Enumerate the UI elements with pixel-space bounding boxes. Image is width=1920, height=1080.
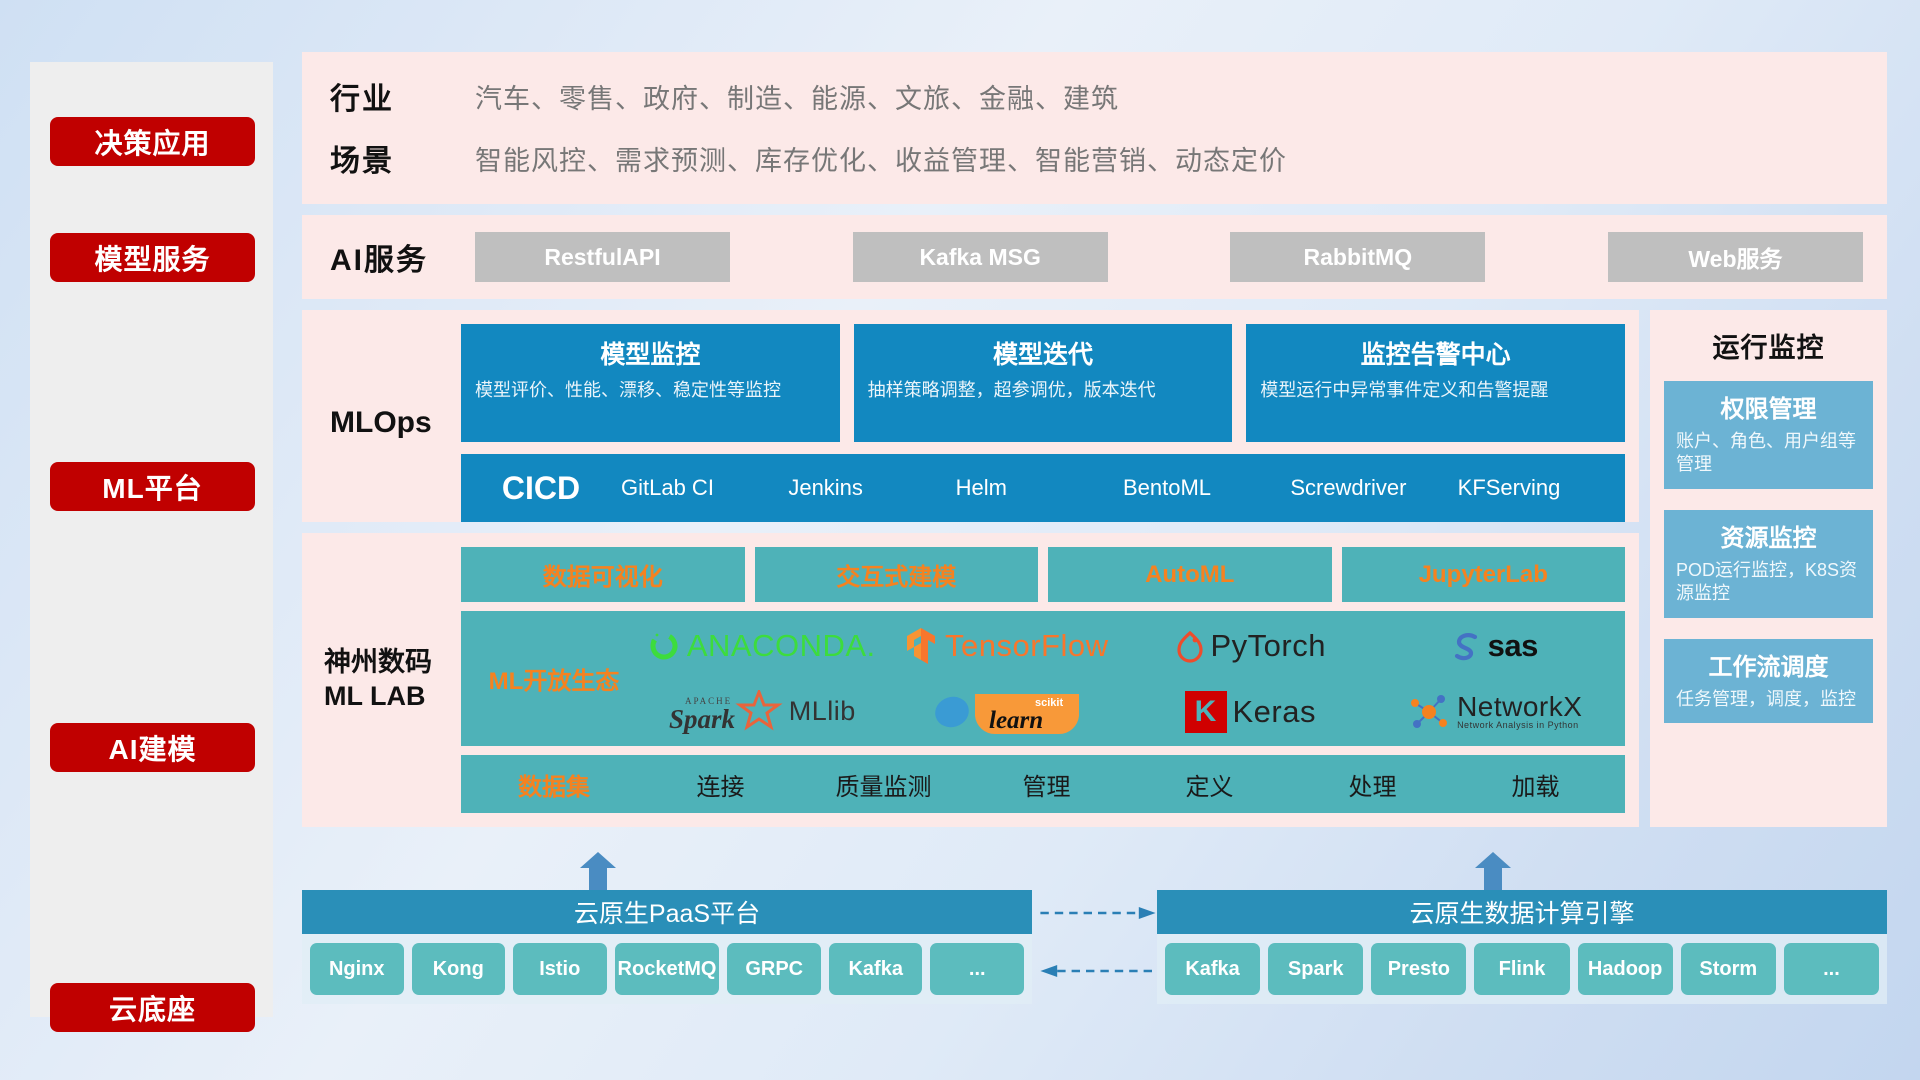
ml-lab-content: 数据可视化 交互式建模 AutoML JupyterLab ML开放生态 (461, 547, 1625, 813)
ml-lab-tab-automl[interactable]: AutoML (1048, 547, 1332, 602)
ai-service-band: AI服务 RestfulAPI Kafka MSG RabbitMQ Web服务 (302, 215, 1887, 299)
apache-spark-icon: APACHE Spark (667, 690, 787, 734)
sas-wordmark: sas (1488, 628, 1538, 664)
runtime-monitor-title: 运行监控 (1664, 326, 1873, 365)
cloud-foundation-area: 云原生PaaS平台 Nginx Kong Istio RocketMQ GRPC… (302, 890, 1887, 1045)
cloud-chip-grpc[interactable]: GRPC (727, 943, 821, 995)
monitor-card-title: 权限管理 (1676, 389, 1861, 424)
cloud-chip-presto[interactable]: Presto (1371, 943, 1466, 995)
mlops-card-model-iteration[interactable]: 模型迭代 抽样策略调整，超参调优，版本迭代 (854, 324, 1233, 442)
cicd-item-bentoml[interactable]: BentoML (1123, 476, 1290, 499)
dashed-arrow-right-icon (1038, 906, 1158, 920)
cloud-chip-kafka-engine[interactable]: Kafka (1165, 943, 1260, 995)
mid-right-column: 运行监控 权限管理 账户、角色、用户组等管理 资源监控 POD运行监控，K8S资… (1650, 310, 1887, 827)
cloud-engine-block: 云原生数据计算引擎 Kafka Spark Presto Flink Hadoo… (1157, 890, 1887, 1004)
mlops-label: MLOps (316, 324, 461, 522)
pytorch-flame-icon (1175, 629, 1205, 663)
cicd-item-screwdriver[interactable]: Screwdriver (1290, 476, 1457, 499)
cloud-chip-istio[interactable]: Istio (513, 943, 607, 995)
monitor-card-desc: POD运行监控，K8S资源监控 (1676, 559, 1861, 606)
tensorflow-wordmark: TensorFlow (945, 628, 1109, 664)
ml-lab-tab-group: 数据可视化 交互式建模 AutoML JupyterLab (461, 547, 1625, 602)
tensorflow-logo: TensorFlow (884, 627, 1129, 665)
cloud-engine-chip-group: Kafka Spark Presto Flink Hadoop Storm ..… (1157, 934, 1887, 1004)
cloud-paas-title: 云原生PaaS平台 (302, 890, 1032, 934)
ml-ecosystem-label: ML开放生态 (469, 661, 639, 696)
pytorch-logo: PyTorch (1128, 628, 1373, 664)
cloud-chip-flink[interactable]: Flink (1474, 943, 1569, 995)
mlops-content: 模型监控 模型评价、性能、漂移、稳定性等监控 模型迭代 抽样策略调整，超参调优，… (461, 324, 1625, 522)
ai-service-chip-web-service[interactable]: Web服务 (1608, 232, 1863, 282)
mlops-card-desc: 模型评价、性能、漂移、稳定性等监控 (475, 379, 826, 403)
industry-row: 行业 汽车、零售、政府、制造、能源、文旅、金融、建筑 (330, 74, 1859, 118)
mlops-card-model-monitoring[interactable]: 模型监控 模型评价、性能、漂移、稳定性等监控 (461, 324, 840, 442)
cloud-paas-chip-group: Nginx Kong Istio RocketMQ GRPC Kafka ... (302, 934, 1032, 1004)
cloud-chip-rocketmq[interactable]: RocketMQ (615, 943, 720, 995)
monitor-card-title: 工作流调度 (1676, 647, 1861, 682)
networkx-logo: NetworkX Network Analysis in Python (1373, 691, 1618, 733)
dataset-item-quality-monitor[interactable]: 质量监测 (802, 767, 965, 802)
pytorch-wordmark: PyTorch (1211, 628, 1326, 664)
ml-lab-tab-interactive-modeling[interactable]: 交互式建模 (755, 547, 1039, 602)
mlops-card-alert-center[interactable]: 监控告警中心 模型运行中异常事件定义和告警提醒 (1246, 324, 1625, 442)
scikit-learn-orange-icon: scikit learn (973, 688, 1081, 736)
ml-lab-tab-jupyterlab[interactable]: JupyterLab (1342, 547, 1626, 602)
monitor-card-desc: 任务管理，调度，监控 (1676, 688, 1861, 711)
mlops-card-title: 模型监控 (475, 335, 826, 371)
dataset-item-define[interactable]: 定义 (1128, 767, 1291, 802)
ml-ecosystem-logo-grid: ANACONDA. (639, 615, 1617, 743)
mlops-band: MLOps 模型监控 模型评价、性能、漂移、稳定性等监控 模型迭代 抽样策略调整… (302, 310, 1639, 522)
ml-lab-label: 神州数码 ML LAB (316, 547, 461, 813)
mllib-wordmark: MLlib (789, 696, 856, 727)
mlops-card-desc: 模型运行中异常事件定义和告警提醒 (1260, 379, 1611, 403)
scikit-blue-blob-icon (931, 691, 973, 733)
dataset-item-manage[interactable]: 管理 (965, 767, 1128, 802)
cloud-chip-spark[interactable]: Spark (1268, 943, 1363, 995)
monitor-card-workflow[interactable]: 工作流调度 任务管理，调度，监控 (1664, 639, 1873, 723)
spark-mllib-logo: APACHE Spark MLlib (639, 690, 884, 734)
dataset-item-connect[interactable]: 连接 (639, 767, 802, 802)
mid-left-column: MLOps 模型监控 模型评价、性能、漂移、稳定性等监控 模型迭代 抽样策略调整… (302, 310, 1639, 827)
ml-lab-label-line1: 神州数码 (324, 646, 432, 680)
architecture-main-stack: 行业 汽车、零售、政府、制造、能源、文旅、金融、建筑 场景 智能风控、需求预测、… (302, 52, 1887, 827)
anaconda-ring-icon (647, 629, 681, 663)
cicd-item-jenkins[interactable]: Jenkins (788, 476, 955, 499)
ai-service-chip-kafka-msg[interactable]: Kafka MSG (853, 232, 1108, 282)
rail-item-cloud-base[interactable]: 云底座 (50, 983, 255, 1032)
svg-text:Spark: Spark (669, 704, 736, 734)
ml-lab-tab-data-visualization[interactable]: 数据可视化 (461, 547, 745, 602)
monitor-card-permission[interactable]: 权限管理 账户、角色、用户组等管理 (1664, 381, 1873, 489)
ai-service-label: AI服务 (330, 235, 475, 279)
networkx-wordmark: NetworkX (1457, 693, 1582, 721)
ml-ecosystem-logo-row-2: APACHE Spark MLlib (639, 681, 1617, 743)
scikit-learn-logo: scikit learn (884, 688, 1129, 736)
dataset-label: 数据集 (469, 767, 639, 802)
dataset-row: 数据集 连接 质量监测 管理 定义 处理 加载 (461, 755, 1625, 813)
monitor-card-desc: 账户、角色、用户组等管理 (1676, 430, 1861, 477)
scenario-row: 场景 智能风控、需求预测、库存优化、收益管理、智能营销、动态定价 (330, 136, 1859, 180)
monitor-card-title: 资源监控 (1676, 518, 1861, 553)
ml-ecosystem-row: ML开放生态 (461, 611, 1625, 746)
cloud-paas-block: 云原生PaaS平台 Nginx Kong Istio RocketMQ GRPC… (302, 890, 1032, 1004)
tensorflow-icon (903, 627, 939, 665)
dataset-item-load[interactable]: 加载 (1454, 767, 1617, 802)
rail-item-model-service[interactable]: 模型服务 (50, 233, 255, 282)
sas-logo: sas (1373, 628, 1618, 664)
industry-value: 汽车、零售、政府、制造、能源、文旅、金融、建筑 (475, 77, 1119, 116)
keras-k-icon: K (1185, 691, 1227, 733)
dataset-item-process[interactable]: 处理 (1291, 767, 1454, 802)
ml-ecosystem-logo-row-1: ANACONDA. (639, 615, 1617, 677)
up-arrow-icon-paas (578, 852, 618, 890)
cicd-item-kfserving[interactable]: KFServing (1458, 476, 1625, 499)
scenario-key: 场景 (330, 136, 475, 180)
svg-text:learn: learn (989, 707, 1043, 734)
cloud-chip-more-engine[interactable]: ... (1784, 943, 1879, 995)
keras-wordmark: Keras (1233, 694, 1316, 730)
ml-lab-label-line2: ML LAB (324, 680, 432, 714)
mlops-card-group: 模型监控 模型评价、性能、漂移、稳定性等监控 模型迭代 抽样策略调整，超参调优，… (461, 324, 1625, 442)
sas-swoosh-icon (1452, 630, 1482, 662)
industry-key: 行业 (330, 74, 475, 118)
layer-rail: 决策应用 模型服务 ML平台 AI建模 云底座 (30, 62, 273, 1017)
anaconda-wordmark: ANACONDA. (687, 628, 876, 664)
cicd-title: CICD (461, 470, 621, 507)
cicd-item-helm[interactable]: Helm (956, 476, 1123, 499)
keras-logo: K Keras (1128, 691, 1373, 733)
dashed-arrow-left-icon (1038, 964, 1158, 978)
scenario-value: 智能风控、需求预测、库存优化、收益管理、智能营销、动态定价 (475, 139, 1287, 178)
rail-item-ai-modeling[interactable]: AI建模 (50, 723, 255, 772)
anaconda-logo: ANACONDA. (639, 628, 884, 664)
cicd-bar: CICD GitLab CI Jenkins Helm BentoML Scre… (461, 454, 1625, 522)
cloud-chip-storm[interactable]: Storm (1681, 943, 1776, 995)
mlops-card-title: 监控告警中心 (1260, 335, 1611, 371)
mlops-card-desc: 抽样策略调整，超参调优，版本迭代 (868, 379, 1219, 403)
rail-item-decision-app[interactable]: 决策应用 (50, 117, 255, 166)
networkx-graph-icon (1407, 691, 1451, 733)
cloud-chip-kong[interactable]: Kong (412, 943, 506, 995)
ai-service-chip-rabbitmq[interactable]: RabbitMQ (1230, 232, 1485, 282)
networkx-tagline: Network Analysis in Python (1457, 721, 1582, 730)
rail-item-ml-platform[interactable]: ML平台 (50, 462, 255, 511)
mlops-card-title: 模型迭代 (868, 335, 1219, 371)
cloud-chip-hadoop[interactable]: Hadoop (1578, 943, 1673, 995)
cloud-chip-more[interactable]: ... (930, 943, 1024, 995)
mid-area: MLOps 模型监控 模型评价、性能、漂移、稳定性等监控 模型迭代 抽样策略调整… (302, 310, 1887, 827)
up-arrow-icon-engine (1473, 852, 1513, 890)
monitor-card-resource[interactable]: 资源监控 POD运行监控，K8S资源监控 (1664, 510, 1873, 618)
ai-service-chip-restfulapi[interactable]: RestfulAPI (475, 232, 730, 282)
cloud-chip-nginx[interactable]: Nginx (310, 943, 404, 995)
ai-service-chip-group: RestfulAPI Kafka MSG RabbitMQ Web服务 (475, 232, 1863, 282)
cicd-item-gitlab-ci[interactable]: GitLab CI (621, 476, 788, 499)
cloud-engine-title: 云原生数据计算引擎 (1157, 890, 1887, 934)
runtime-monitor-panel: 运行监控 权限管理 账户、角色、用户组等管理 资源监控 POD运行监控，K8S资… (1650, 310, 1887, 827)
industry-scenario-band: 行业 汽车、零售、政府、制造、能源、文旅、金融、建筑 场景 智能风控、需求预测、… (302, 52, 1887, 204)
ml-lab-band: 神州数码 ML LAB 数据可视化 交互式建模 AutoML JupyterLa… (302, 533, 1639, 827)
cloud-chip-kafka[interactable]: Kafka (829, 943, 923, 995)
